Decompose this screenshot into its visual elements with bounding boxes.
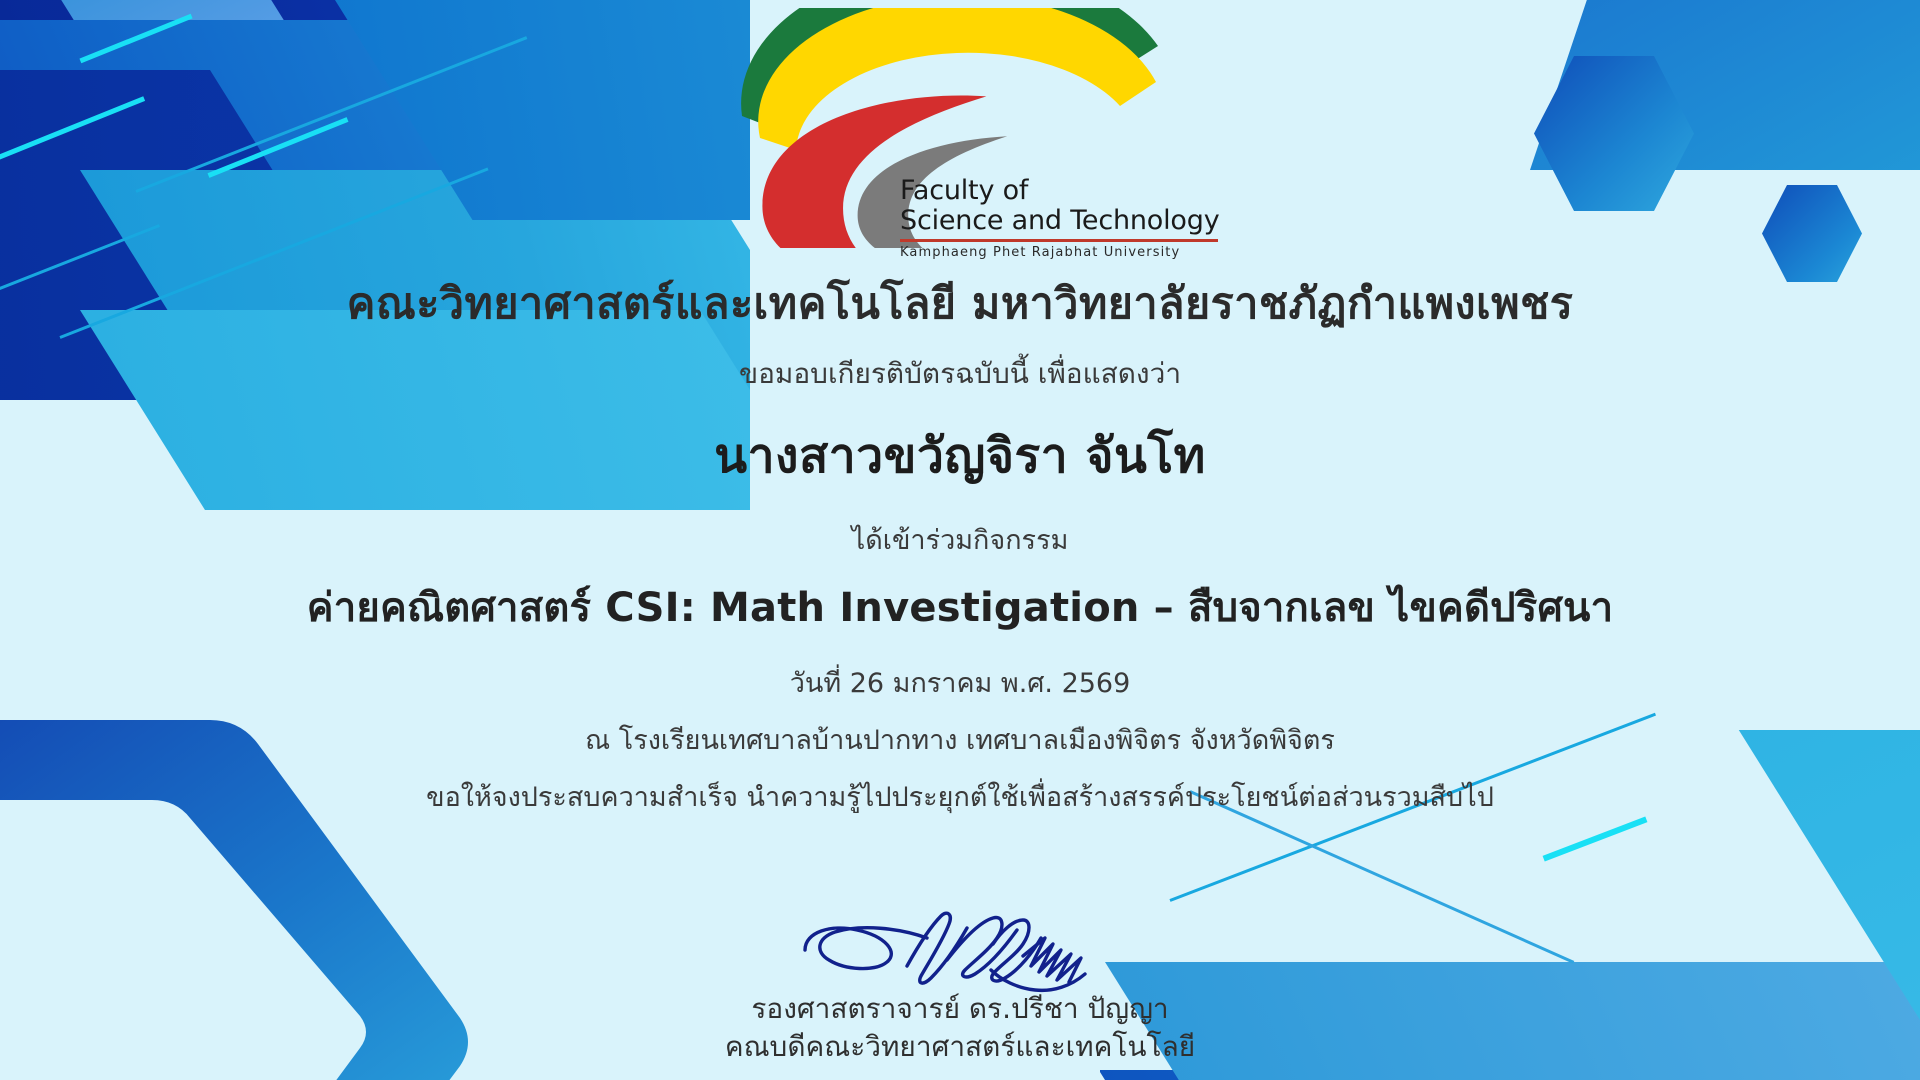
event-venue: ณ โรงเรียนเทศบาลบ้านปากทาง เทศบาลเมืองพิ…: [0, 718, 1920, 761]
signature-block: รองศาสตราจารย์ ดร.ปรีชา ปัญญา คณบดีคณะวิ…: [580, 904, 1340, 1066]
signer-role: คณบดีคณะวิทยาศาสตร์และเทคโนโลยี: [580, 1028, 1340, 1066]
event-title: ค่ายคณิตศาสตร์ CSI: Math Investigation –…: [0, 583, 1920, 633]
decor-hexagon-small: [1762, 185, 1862, 282]
certificate-page: Faculty of Science and Technology Kampha…: [0, 0, 1920, 1080]
logo-divider: [900, 239, 1218, 242]
award-statement: ขอมอบเกียรติบัตรฉบับนี้ เพื่อแสดงว่า: [0, 356, 1920, 392]
decor-accent-sliver-2: [79, 14, 192, 64]
decor-line-1: [135, 36, 527, 193]
logo-line-3: Kamphaeng Phet Rajabhat University: [900, 245, 1230, 260]
logo-line-1: Faculty of: [900, 176, 1230, 206]
handwritten-signature-icon: [795, 904, 1125, 996]
logo-wordmark: Faculty of Science and Technology Kampha…: [900, 176, 1230, 260]
signer-name: รองศาสตราจารย์ ดร.ปรีชา ปัญญา: [580, 990, 1340, 1028]
institution-logo: Faculty of Science and Technology Kampha…: [690, 8, 1230, 278]
event-date: วันที่ 26 มกราคม พ.ศ. 2569: [0, 661, 1920, 704]
decor-hexagon-large: [1534, 56, 1694, 211]
decor-accent-sliver-1: [0, 96, 145, 161]
decor-top-right-panel: [1530, 0, 1920, 170]
organization-heading: คณะวิทยาศาสตร์และเทคโนโลยี มหาวิทยาลัยรา…: [0, 278, 1920, 332]
participation-label: ได้เข้าร่วมกิจกรรม: [0, 518, 1920, 561]
recipient-name: นางสาวขวัญจิรา จันโท: [0, 426, 1920, 486]
decor-accent-sliver-4: [1543, 816, 1648, 861]
wish-text: ขอให้จงประสบความสำเร็จ นำความรู้ไปประยุก…: [0, 775, 1920, 818]
logo-line-2: Science and Technology: [900, 206, 1230, 236]
decor-accent-sliver-3: [208, 117, 349, 178]
certificate-body: คณะวิทยาศาสตร์และเทคโนโลยี มหาวิทยาลัยรา…: [0, 278, 1920, 818]
